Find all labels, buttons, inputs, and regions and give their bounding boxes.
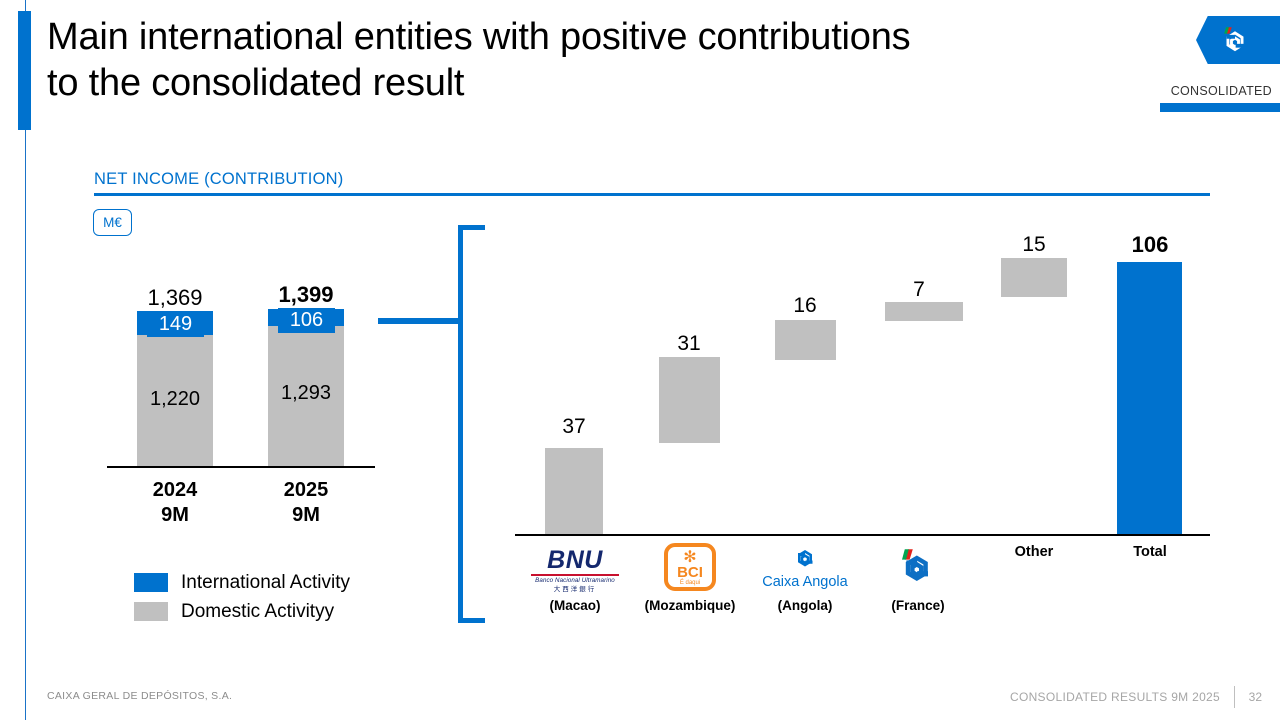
bnu-chinese-name: 大西洋銀行	[528, 585, 622, 594]
footer-divider	[1234, 686, 1235, 708]
waterfall-value-label-angola: 16	[761, 294, 849, 318]
caixa-angola-mark-icon	[792, 545, 818, 570]
footer-company: CAIXA GERAL DE DEPÓSITOS, S.A.	[47, 690, 232, 702]
waterfall-bar-macao	[545, 448, 603, 534]
waterfall-value-label-mozambique: 31	[645, 332, 733, 356]
waterfall-category-other: Other	[979, 544, 1089, 560]
waterfall-value-label-total: 106	[1106, 232, 1194, 258]
footer-deck-title: CONSOLIDATED RESULTS 9M 2025	[1010, 690, 1220, 704]
slide-canvas: Main international entities with positiv…	[0, 0, 1280, 720]
waterfall-bar-angola	[775, 320, 836, 360]
cgd-france-logo	[894, 546, 942, 591]
waterfall-category-france: (France)	[863, 598, 973, 613]
bci-logo: ✻ BCI É daqui	[663, 543, 717, 591]
waterfall-baseline	[515, 534, 1210, 536]
waterfall-category-angola: (Angola)	[750, 598, 860, 613]
waterfall-bar-total	[1117, 262, 1182, 534]
waterfall-category-mozambique: (Mozambique)	[620, 598, 760, 613]
cgd-france-mark-icon	[894, 546, 938, 586]
caixa-angola-wordmark: Caixa Angola	[758, 574, 852, 590]
bnu-wordmark: BNU	[528, 548, 622, 573]
international-contribution-waterfall-chart: 37 31 16 7 15 106 BNU Banco Nacional Ult…	[0, 0, 1280, 720]
bnu-rule-icon	[531, 574, 619, 576]
waterfall-bar-france	[885, 302, 963, 321]
waterfall-bar-other	[1001, 258, 1067, 297]
bci-tagline: É daqui	[668, 579, 712, 587]
footer-page-number: 32	[1249, 690, 1262, 704]
waterfall-bar-mozambique	[659, 357, 720, 443]
bnu-logo: BNU Banco Nacional Ultramarino 大西洋銀行	[528, 548, 622, 594]
caixa-angola-logo: Caixa Angola	[758, 545, 852, 590]
waterfall-value-label-macao: 37	[530, 415, 618, 439]
bci-badge-icon: ✻ BCI É daqui	[664, 543, 716, 591]
bnu-subtitle: Banco Nacional Ultramarino	[528, 577, 622, 585]
waterfall-value-label-france: 7	[875, 278, 963, 302]
waterfall-category-macao: (Macao)	[520, 598, 630, 613]
waterfall-category-total: Total	[1095, 544, 1205, 560]
waterfall-value-label-other: 15	[990, 233, 1078, 257]
